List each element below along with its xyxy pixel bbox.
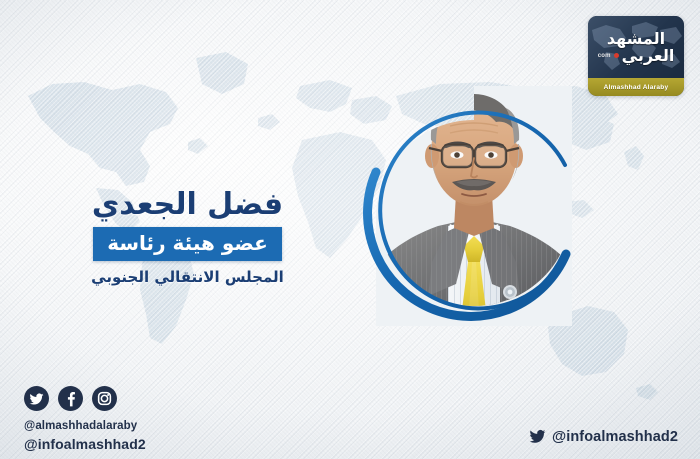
social-links-group: @almashhadalaraby @infoalmashhad2 [24, 386, 146, 453]
handle-secondary[interactable]: @infoalmashhad2 [24, 435, 146, 454]
logo-caption-text: Almashhad Alaraby [604, 84, 669, 91]
logo-arabic-wordmark: المشهد العربي com [588, 16, 684, 78]
logo-top-panel: المشهد العربي com [588, 16, 684, 78]
handles-group: @almashhadalaraby @infoalmashhad2 [24, 419, 146, 453]
twitter-bird-icon [529, 428, 546, 445]
facebook-icon[interactable] [58, 386, 83, 411]
portrait-container [352, 86, 592, 336]
logo-arabic-line-2-row: العربي com [598, 48, 675, 64]
organization-name: المجلس الانتقالي الجنوبي [80, 268, 295, 286]
social-icon-row [24, 386, 146, 411]
footer-twitter-handle: @infoalmashhad2 [552, 429, 678, 445]
footer-twitter-group[interactable]: @infoalmashhad2 [529, 428, 678, 445]
handle-primary[interactable]: @almashhadalaraby [24, 419, 146, 435]
twitter-icon[interactable] [24, 386, 49, 411]
logo-arabic-line-2: العربي [622, 48, 675, 64]
logo-caption-bar: Almashhad Alaraby [588, 78, 684, 96]
brand-logo[interactable]: المشهد العربي com Almashhad Alaraby [588, 16, 684, 96]
portrait-ring [352, 86, 592, 336]
person-name: فضل الجعدي [80, 188, 295, 222]
instagram-icon[interactable] [92, 386, 117, 411]
logo-red-dot-icon [614, 53, 619, 58]
media-card: المشهد العربي com Almashhad Alaraby [0, 0, 700, 459]
role-badge: عضو هيئة رئاسة [93, 227, 282, 261]
logo-com-label: com [598, 53, 611, 59]
logo-arabic-line-1: المشهد [607, 31, 665, 47]
subject-text-block: فضل الجعدي عضو هيئة رئاسة المجلس الانتقا… [80, 188, 295, 286]
